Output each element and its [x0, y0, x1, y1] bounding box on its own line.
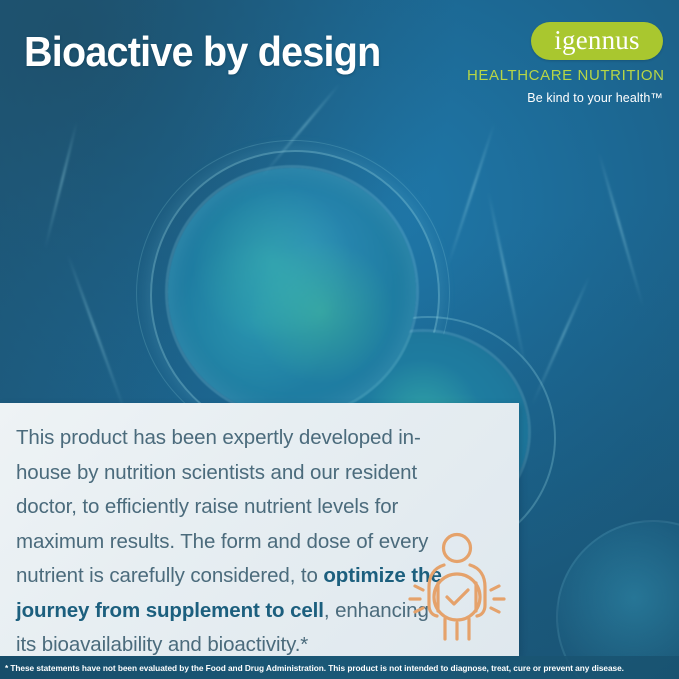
parent-cell [168, 168, 416, 416]
page-title: Bioactive by design [24, 28, 380, 76]
description-panel: This product has been expertly developed… [0, 403, 519, 656]
description-text: This product has been expertly developed… [16, 421, 446, 656]
promo-image-root: Bioactive by design igennus HEALTHCARE N… [0, 0, 679, 679]
logo-pill-shape: igennus [531, 22, 663, 60]
disclaimer-text: * These statements have not been evaluat… [0, 663, 624, 673]
logo-subtitle: HEALTHCARE NUTRITION [467, 67, 663, 84]
description-text-part-1: This product has been expertly developed… [16, 426, 428, 587]
person-with-check-icon [401, 531, 513, 649]
brand-logo: igennus HEALTHCARE NUTRITION Be kind to … [467, 22, 663, 105]
logo-tagline: Be kind to your health™ [467, 91, 663, 105]
disclaimer-bar: * These statements have not been evaluat… [0, 656, 679, 679]
logo-wordmark: igennus [531, 22, 663, 60]
